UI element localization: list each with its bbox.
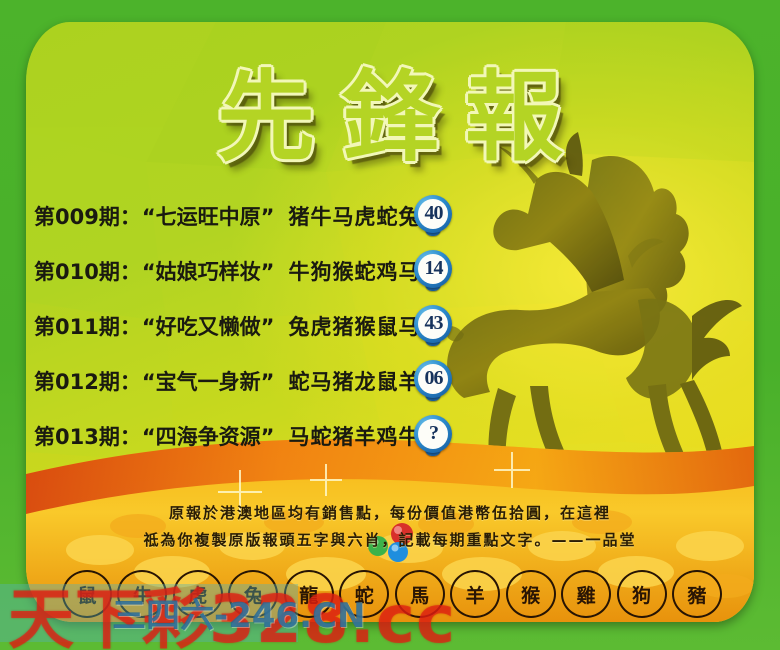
footer-note-line-1: 原報於港澳地區均有銷售點，每份價值港幣伍拾圓，在這裡 xyxy=(26,500,754,527)
footer-note: 原報於港澳地區均有銷售點，每份價值港幣伍拾圓，在這裡 祗為你複製原版報頭五字與六… xyxy=(26,500,754,554)
ball-number: 40 xyxy=(418,199,448,229)
zodiac-strip: 鼠 牛 虎 兔 龍 蛇 馬 羊 猴 雞 狗 豬 xyxy=(62,570,722,618)
lottery-poster: 原報於港澳地區均有銷售點，每份價值港幣伍拾圓，在這裡 祗為你複製原版報頭五字與六… xyxy=(0,0,780,650)
forecast-title: “四海争资源” xyxy=(142,421,275,451)
forecast-ball[interactable]: 43 xyxy=(414,305,452,347)
forecast-row[interactable]: 第011期： “好吃又懒做” 兔虎猪猴鼠马 43 xyxy=(34,298,534,353)
forecast-zodiacs: 牛狗猴蛇鸡马 xyxy=(288,256,420,286)
forecast-row[interactable]: 第009期： “七运旺中原” 猪牛马虎蛇兔 40 xyxy=(34,188,534,243)
forecast-issue: 第011期： xyxy=(34,311,141,341)
forecast-zodiacs: 兔虎猪猴鼠马 xyxy=(288,311,420,341)
zodiac-chip-rabbit[interactable]: 兔 xyxy=(228,570,278,618)
forecast-ball[interactable]: 06 xyxy=(414,360,452,402)
forecast-title: “好吃又懒做” xyxy=(142,311,275,341)
forecast-zodiacs: 蛇马猪龙鼠羊 xyxy=(288,366,420,396)
forecast-list: 第009期： “七运旺中原” 猪牛马虎蛇兔 40 第010期： “姑娘巧样妆” … xyxy=(34,188,534,463)
forecast-issue: 第012期： xyxy=(34,366,141,396)
ball-number: 06 xyxy=(418,364,448,394)
forecast-title: “姑娘巧样妆” xyxy=(142,256,275,286)
ball-number: 43 xyxy=(418,309,448,339)
zodiac-chip-monkey[interactable]: 猴 xyxy=(506,570,556,618)
ball-number: 14 xyxy=(418,254,448,284)
footer-note-line-2: 祗為你複製原版報頭五字與六肖，記載每期重點文字。——一品堂 xyxy=(26,527,754,554)
forecast-row[interactable]: 第012期： “宝气一身新” 蛇马猪龙鼠羊 06 xyxy=(34,353,534,408)
forecast-ball[interactable]: 14 xyxy=(414,250,452,292)
forecast-title: “七运旺中原” xyxy=(142,201,275,231)
forecast-zodiacs: 猪牛马虎蛇兔 xyxy=(288,201,420,231)
zodiac-chip-dog[interactable]: 狗 xyxy=(617,570,667,618)
forecast-issue: 第010期： xyxy=(34,256,141,286)
zodiac-chip-pig[interactable]: 豬 xyxy=(672,570,722,618)
zodiac-chip-snake[interactable]: 蛇 xyxy=(339,570,389,618)
forecast-row[interactable]: 第013期： “四海争资源” 马蛇猪羊鸡牛 ? xyxy=(34,408,534,463)
zodiac-chip-dragon[interactable]: 龍 xyxy=(284,570,334,618)
forecast-issue: 第009期： xyxy=(34,201,141,231)
zodiac-chip-goat[interactable]: 羊 xyxy=(450,570,500,618)
zodiac-chip-rooster[interactable]: 雞 xyxy=(561,570,611,618)
zodiac-chip-horse[interactable]: 馬 xyxy=(395,570,445,618)
forecast-title: “宝气一身新” xyxy=(142,366,275,396)
ball-number: ? xyxy=(418,419,448,449)
forecast-ball[interactable]: ? xyxy=(414,415,452,457)
forecast-ball[interactable]: 40 xyxy=(414,195,452,237)
zodiac-chip-rat[interactable]: 鼠 xyxy=(62,570,112,618)
zodiac-chip-tiger[interactable]: 虎 xyxy=(173,570,223,618)
forecast-row[interactable]: 第010期： “姑娘巧样妆” 牛狗猴蛇鸡马 14 xyxy=(34,243,534,298)
forecast-zodiacs: 马蛇猪羊鸡牛 xyxy=(288,421,420,451)
zodiac-chip-ox[interactable]: 牛 xyxy=(117,570,167,618)
forecast-issue: 第013期： xyxy=(34,421,141,451)
